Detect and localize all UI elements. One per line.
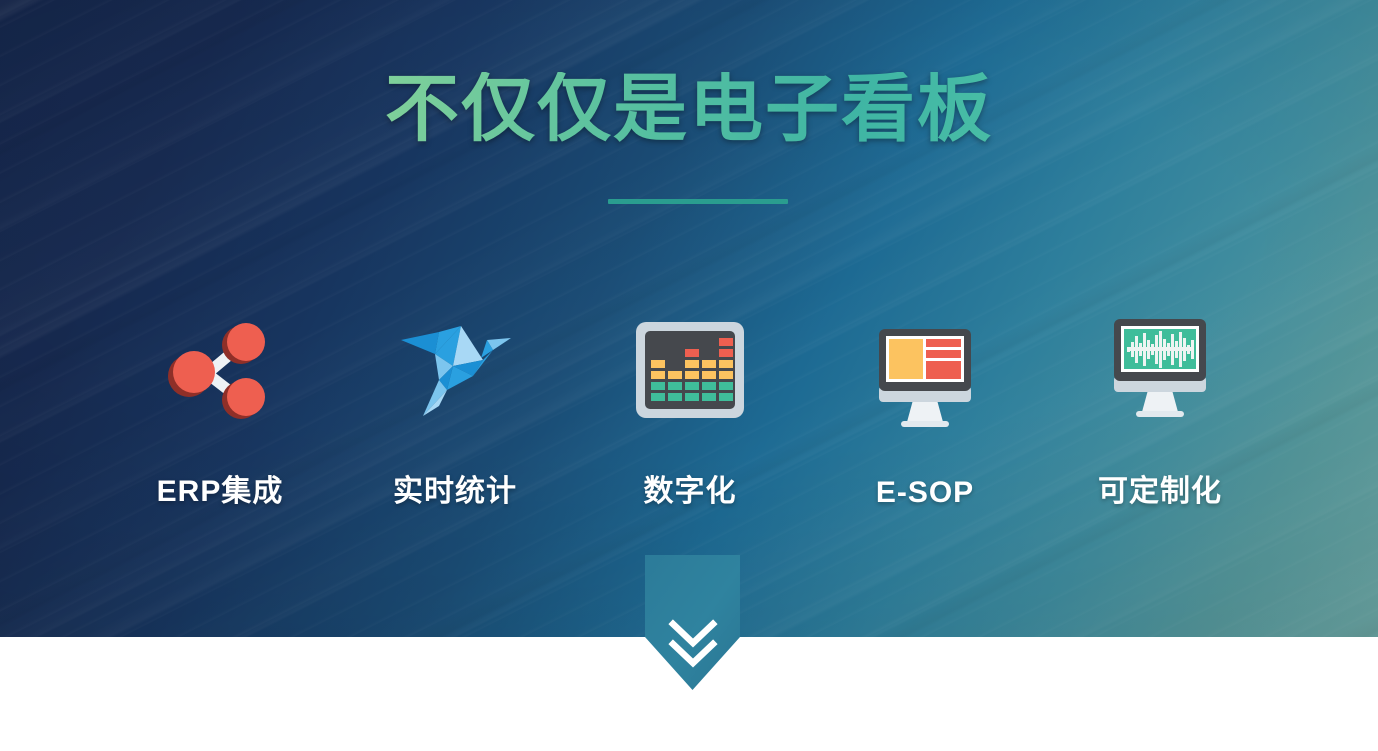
feature-label-erp: ERP集成 [157, 466, 284, 510]
feature-item-digitalization[interactable]: 数字化 [590, 310, 790, 510]
page-title: 不仅仅是电子看板 [0, 72, 1378, 146]
feature-label-realtime-stats: 实时统计 [393, 466, 517, 510]
feature-label-digitalization: 数字化 [644, 466, 737, 510]
feature-item-customizable[interactable]: 可定制化 [1060, 310, 1260, 510]
double-chevron-down-icon [663, 612, 723, 672]
feature-list: ERP集成 [120, 310, 1260, 510]
promo-page: 不仅仅是电子看板 [0, 0, 1378, 751]
monitor-layout-icon [873, 320, 977, 440]
feature-label-customizable: 可定制化 [1098, 466, 1222, 510]
scroll-down-button[interactable] [645, 555, 740, 690]
title-divider [608, 199, 788, 204]
feature-item-realtime-stats[interactable]: 实时统计 [355, 310, 555, 510]
hero-banner: 不仅仅是电子看板 [0, 0, 1378, 637]
feature-item-erp[interactable]: ERP集成 [120, 310, 320, 510]
share-network-icon [165, 310, 275, 430]
feature-label-e-sop: E-SOP [876, 476, 974, 510]
origami-bird-icon [395, 310, 515, 430]
equalizer-board-icon [636, 310, 744, 430]
feature-item-e-sop[interactable]: E-SOP [825, 320, 1025, 510]
monitor-waveform-icon [1108, 310, 1212, 430]
